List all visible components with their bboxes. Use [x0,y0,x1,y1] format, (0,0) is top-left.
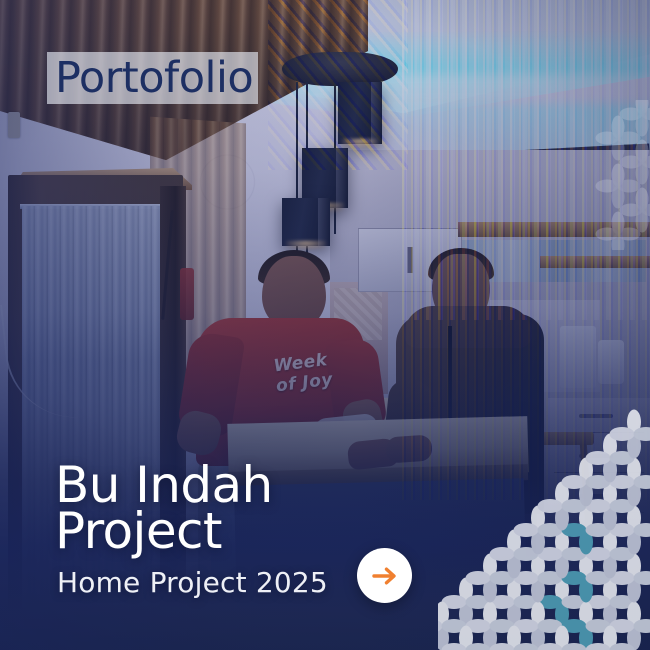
next-slide-button[interactable] [357,548,412,603]
petal-pattern-decor [438,388,650,650]
arrow-right-icon [371,563,399,589]
title-line-2: Project [55,508,273,554]
page-title: Bu Indah Project [55,462,273,554]
portfolio-poster: Week of Joy [0,0,650,650]
kicker-label: Portofolio [55,53,253,103]
petal-pattern-top [584,100,650,250]
subtitle: Home Project 2025 [57,566,328,599]
